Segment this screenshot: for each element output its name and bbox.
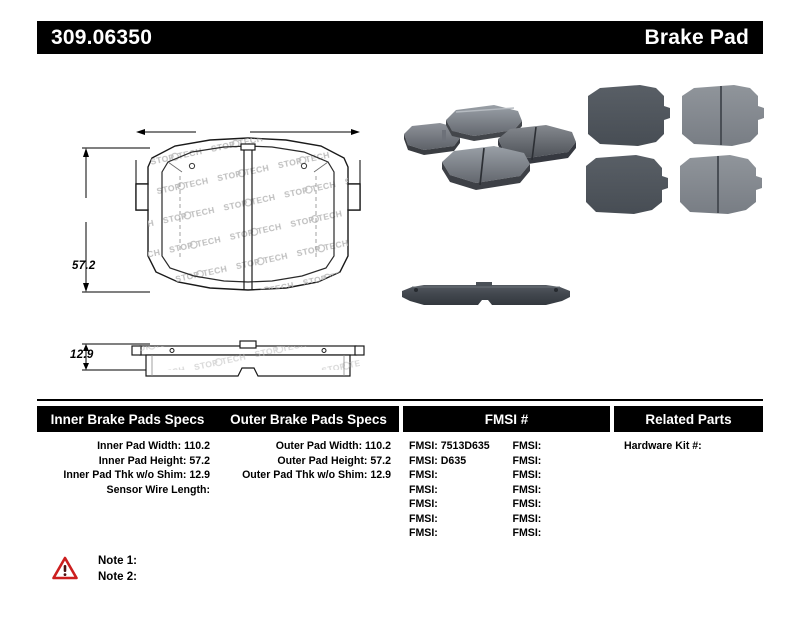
note-line-1: Note 1: <box>98 553 137 569</box>
spec-row: Inner Pad Width: 110.2 <box>37 439 218 454</box>
fmsi-column: FMSI: 7513D635 FMSI: D635 FMSI: FMSI: FM… <box>403 439 610 541</box>
fmsi-row: FMSI: <box>513 468 611 483</box>
product-photo-flat-group <box>578 84 768 224</box>
note-line-2: Note 2: <box>98 569 137 585</box>
notes-section: Note 1: Note 2: <box>52 553 137 585</box>
fmsi-subcolumn-right: FMSI: FMSI: FMSI: FMSI: FMSI: FMSI: FMSI… <box>507 439 611 541</box>
notes-text-block: Note 1: Note 2: <box>98 553 137 585</box>
specifications-table: Inner Brake Pads Specs Outer Brake Pads … <box>37 399 763 541</box>
outer-specs-column: Outer Pad Width: 110.2 Outer Pad Height:… <box>218 439 399 541</box>
product-type-label: Brake Pad <box>644 26 749 50</box>
spec-row: Sensor Wire Length: <box>37 483 218 498</box>
fmsi-row: FMSI: <box>513 483 611 498</box>
fmsi-row: FMSI: <box>513 454 611 469</box>
column-header-fmsi: FMSI # <box>403 406 610 432</box>
spec-row: Outer Pad Thk w/o Shim: 12.9 <box>218 468 399 483</box>
table-top-rule <box>37 399 763 401</box>
fmsi-subcolumn-left: FMSI: 7513D635 FMSI: D635 FMSI: FMSI: FM… <box>403 439 507 541</box>
inner-specs-column: Inner Pad Width: 110.2 Inner Pad Height:… <box>37 439 218 541</box>
fmsi-row: FMSI: <box>513 512 611 527</box>
product-photo-side-view <box>396 275 576 325</box>
related-part-row: Hardware Kit #: <box>614 439 763 454</box>
fmsi-row: FMSI: <box>409 512 507 527</box>
part-number: 309.06350 <box>51 26 152 50</box>
column-header-outer-specs: Outer Brake Pads Specs <box>218 406 399 432</box>
fmsi-row: FMSI: <box>513 439 611 454</box>
fmsi-row: FMSI: D635 <box>409 454 507 469</box>
related-parts-column: Hardware Kit #: <box>614 439 763 541</box>
column-header-inner-specs: Inner Brake Pads Specs <box>37 406 218 432</box>
fmsi-row: FMSI: <box>513 497 611 512</box>
fmsi-row: FMSI: <box>409 497 507 512</box>
fmsi-row: FMSI: <box>409 483 507 498</box>
spec-row: Inner Pad Thk w/o Shim: 12.9 <box>37 468 218 483</box>
warning-triangle-icon <box>52 556 78 580</box>
fmsi-row: FMSI: <box>513 526 611 541</box>
spec-row: Outer Pad Height: 57.2 <box>218 454 399 469</box>
table-body-row: Inner Pad Width: 110.2 Inner Pad Height:… <box>37 432 763 541</box>
fmsi-row: FMSI: <box>409 468 507 483</box>
fmsi-row: FMSI: 7513D635 <box>409 439 507 454</box>
column-header-related-parts: Related Parts <box>614 406 763 432</box>
product-photo-angled-group <box>396 90 586 220</box>
spec-row: Outer Pad Width: 110.2 <box>218 439 399 454</box>
title-bar: 309.06350 Brake Pad <box>37 21 763 54</box>
spec-row: Inner Pad Height: 57.2 <box>37 454 218 469</box>
fmsi-row: FMSI: <box>409 526 507 541</box>
table-header-row: Inner Brake Pads Specs Outer Brake Pads … <box>37 406 763 432</box>
product-drawing-area: 110.2 57.2 12.9 STOP TECH <box>0 60 800 390</box>
